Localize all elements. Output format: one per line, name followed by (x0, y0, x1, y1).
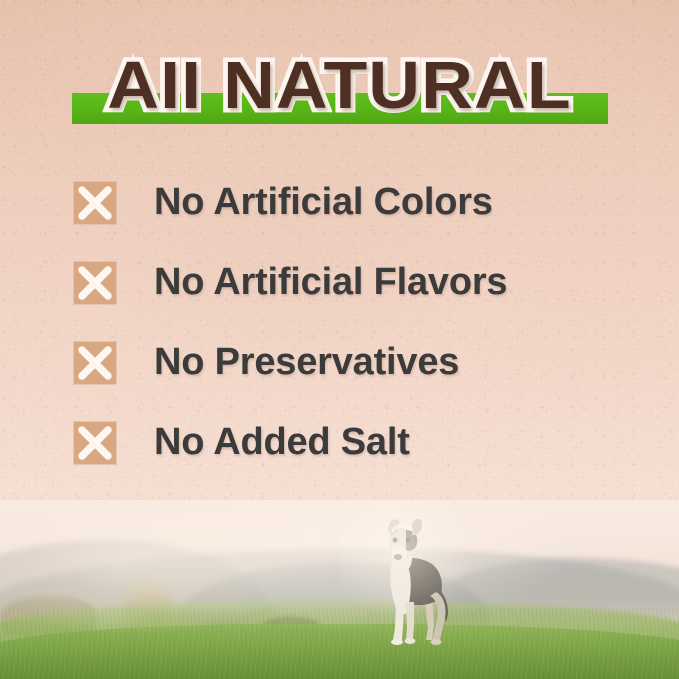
list-item-label: No Artificial Colors (154, 178, 493, 226)
grass-texture (0, 608, 679, 679)
claims-list: No Artificial Colors No Artificial Flavo… (74, 182, 634, 502)
product-feature-graphic: AII NATURAL No Artificial Colors (0, 0, 679, 679)
x-mark-icon (74, 262, 116, 304)
x-mark-icon (74, 422, 116, 464)
landscape-photo (0, 500, 679, 679)
header-banner: AII NATURAL (0, 0, 679, 150)
x-mark-icon (74, 342, 116, 384)
list-item-label: No Artificial Flavors (154, 258, 507, 306)
list-item: No Added Salt (74, 422, 634, 502)
list-item-label: No Added Salt (154, 418, 410, 466)
dog-illustration (362, 516, 458, 648)
list-item: No Artificial Colors (74, 182, 634, 262)
list-item: No Preservatives (74, 342, 634, 422)
list-item-label: No Preservatives (154, 338, 459, 386)
list-item: No Artificial Flavors (74, 262, 634, 342)
page-title: AII NATURAL (0, 52, 679, 119)
x-mark-icon (74, 182, 116, 224)
